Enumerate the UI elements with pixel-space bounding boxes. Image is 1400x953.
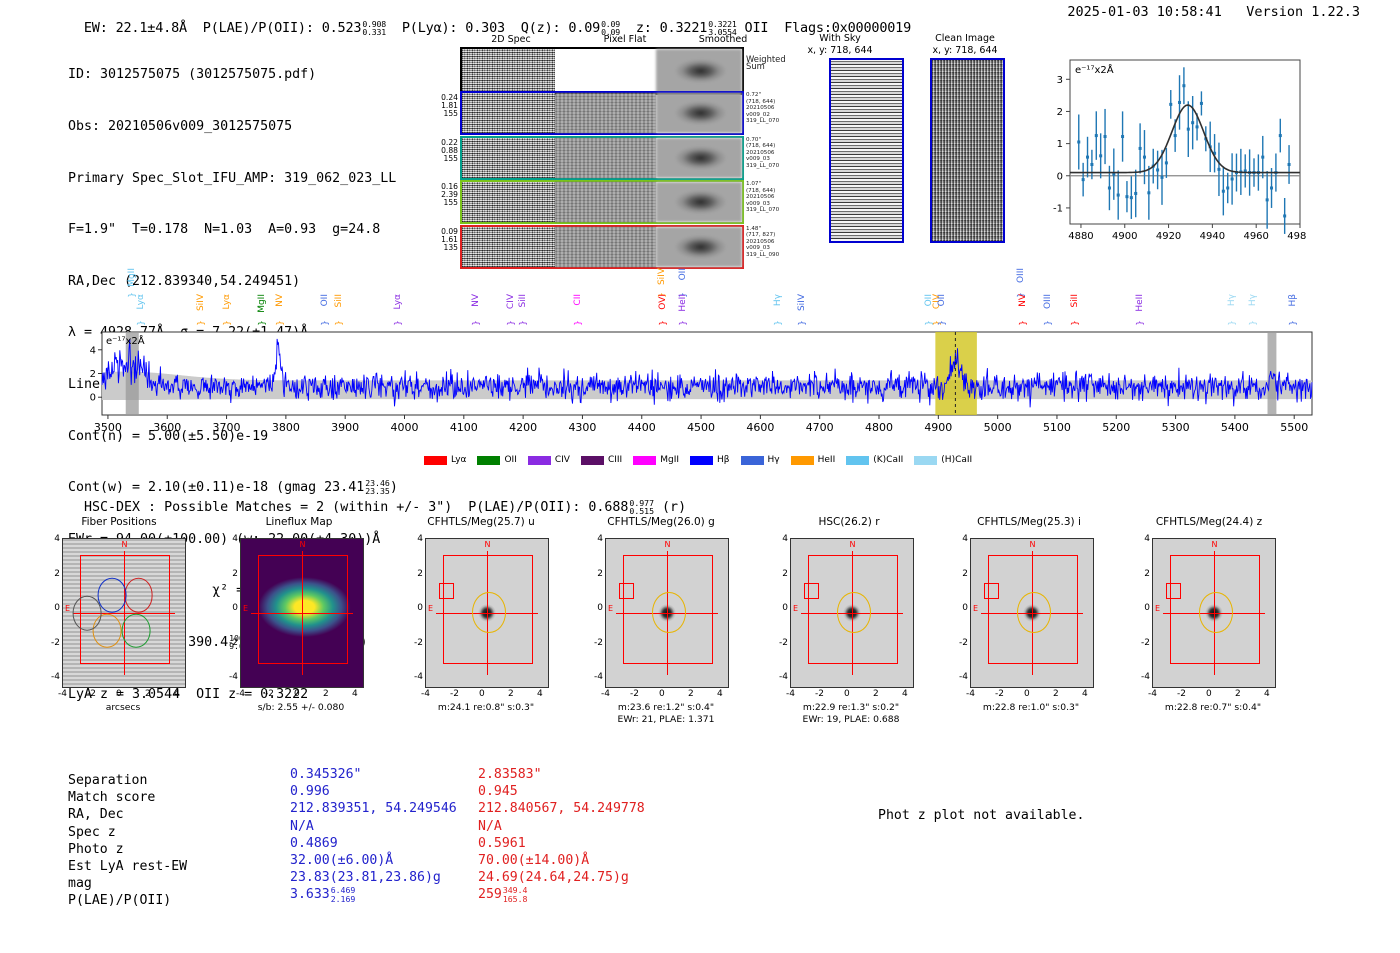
emission-line-brace: {	[392, 320, 402, 326]
legend-item: HeII	[791, 455, 836, 465]
cutout-y-ticks: 420-2-4	[1136, 538, 1150, 686]
table-cell-match1: 0.345326"	[290, 766, 361, 783]
legend-label: CIII	[608, 455, 622, 465]
table-cell-match1: 23.83(23.81,23.86)g	[290, 869, 441, 886]
cutout-image[interactable]: NE	[790, 538, 914, 688]
compass-n-label: N	[1212, 540, 1218, 549]
svg-text:4400: 4400	[628, 421, 656, 434]
emission-line-label: OII	[678, 268, 688, 280]
panel-title-2dspec: 2D Spec	[466, 34, 556, 45]
emission-line-label: NV	[1018, 294, 1028, 307]
fiber-2dspec-image	[462, 138, 555, 178]
legend-item: (H)CaII	[914, 455, 972, 465]
cutout-image[interactable]: NE	[240, 538, 364, 688]
svg-text:5400: 5400	[1221, 421, 1249, 434]
cutout-caption: arcsecs	[23, 702, 223, 714]
cutout-y-ticks: 420-2-4	[589, 538, 603, 686]
fiber-pixelflat-image	[555, 182, 656, 222]
cutout-title: CFHTLS/Meg(26.0) g	[576, 516, 746, 528]
emission-line-label: OIII	[1043, 294, 1053, 309]
weighted-sum-pixelflat-image	[555, 49, 656, 93]
cutout-caption: m:23.6 re:1.2" s:0.4"EWr: 21, PLAE: 1.37…	[566, 702, 766, 726]
compass-e-label: E	[608, 604, 613, 613]
cutout-x-ticks: -4-2024	[62, 689, 184, 702]
table-cell-match2: N/A	[478, 818, 502, 835]
compass-e-label: E	[243, 604, 248, 613]
emission-line-brace: {	[677, 320, 687, 326]
svg-text:4200: 4200	[509, 421, 537, 434]
svg-text:4500: 4500	[687, 421, 715, 434]
svg-text:4900: 4900	[1112, 231, 1137, 242]
cutout-y-ticks: 420-2-4	[774, 538, 788, 686]
aperture-circle-yellow	[472, 592, 506, 632]
emission-line-label: OVI	[658, 294, 668, 310]
compass-n-label: N	[485, 540, 491, 549]
fiber-left-values: 0.241.81155	[432, 94, 458, 119]
clean-image-image	[930, 58, 1005, 243]
compass-e-label: E	[1155, 604, 1160, 613]
emission-line-brace: {	[1226, 320, 1236, 326]
fiber-pixelflat-image	[555, 227, 656, 267]
aperture-circle-yellow	[1017, 592, 1051, 632]
info-obs: Obs: 20210506v009_3012575075	[68, 118, 398, 135]
emission-line-brace: {	[1134, 320, 1144, 326]
svg-text:0: 0	[1057, 171, 1063, 182]
emission-line-brace: {	[135, 320, 145, 326]
svg-text:3: 3	[1057, 75, 1063, 86]
fiber-left-values: 0.091.61135	[432, 228, 458, 253]
emission-line-brace: {	[1042, 320, 1052, 326]
emission-line-brace: {	[195, 320, 205, 326]
legend-swatch	[424, 456, 447, 465]
cutout-image[interactable]: NE	[970, 538, 1094, 688]
cutout-title: CFHTLS/Meg(25.3) i	[944, 516, 1114, 528]
fiber-circle	[73, 596, 102, 631]
table-row-label: Photo z	[68, 841, 124, 858]
emission-line-label: OII	[937, 294, 947, 306]
fiber-2dspec-image	[462, 93, 555, 133]
emission-line-label: SiII	[518, 294, 528, 308]
svg-text:4880: 4880	[1068, 231, 1093, 242]
info-id: ID: 3012575075 (3012575075.pdf)	[68, 66, 398, 83]
svg-text:3700: 3700	[213, 421, 241, 434]
emission-line-label: HeII	[678, 294, 688, 312]
table-cell-match1: 212.839351, 54.249546	[290, 800, 457, 817]
table-cell-match2: 212.840567, 54.249778	[478, 800, 645, 817]
table-cell-match2: 0.945	[478, 783, 518, 800]
compass-n-label: N	[665, 540, 671, 549]
cutout-x-ticks: -4-2024	[790, 689, 912, 702]
panel-title-pixelflat: Pixel Flat	[580, 34, 670, 45]
legend-item: MgII	[633, 455, 679, 465]
emission-line-labels: MgII{Lyα{SiIV{Lyα{MgII{NV{OII{SiII{Lyα{N…	[80, 268, 1320, 348]
legend-label: Hγ	[768, 455, 780, 465]
table-cell-match1: N/A	[290, 818, 314, 835]
compass-n-label: N	[850, 540, 856, 549]
emission-line-label: Hγ	[1227, 294, 1237, 306]
cutout-caption: s/b: 2.55 +/- 0.080	[201, 702, 401, 714]
compass-n-label: N	[300, 540, 306, 549]
emission-line-label: Lyα	[222, 294, 232, 309]
svg-text:4300: 4300	[568, 421, 596, 434]
svg-text:4940: 4940	[1200, 231, 1225, 242]
legend-label: (K)CaII	[873, 455, 903, 465]
legend-label: Hβ	[717, 455, 730, 465]
fiber-smoothed-image	[656, 227, 742, 267]
legend-item: Hβ	[690, 455, 730, 465]
fiber-meta-label: 0.72"(718, 644)20210506v009_02319_LL_070	[746, 92, 779, 125]
svg-text:4800: 4800	[865, 421, 893, 434]
emission-line-brace: {	[1069, 320, 1079, 326]
table-row-label: RA, Dec	[68, 806, 124, 823]
cutout-caption: m:22.8 re:0.7" s:0.4"	[1113, 702, 1313, 714]
cutout-caption: m:24.1 re:0.8" s:0.3"	[386, 702, 586, 714]
neighbor-red-marker	[439, 583, 453, 598]
cutout-y-ticks: 420-2-4	[224, 538, 238, 686]
weighted-sum-row	[460, 47, 744, 95]
emission-line-brace: {	[333, 320, 343, 326]
emission-line-label: CIV	[506, 294, 516, 309]
table-cell-match2: 2.83583"	[478, 766, 542, 783]
cutout-title: Lineflux Map	[214, 516, 384, 528]
with-sky-title: With Sky	[785, 33, 895, 44]
table-cell-match2: 70.00(±14.00)Å	[478, 852, 589, 869]
fiber-smoothed-image	[656, 138, 742, 178]
emission-line-label: NV	[275, 294, 285, 307]
aperture-circle-yellow	[1199, 592, 1233, 632]
compass-e-label: E	[65, 604, 70, 613]
emission-line-label: SiIV	[657, 268, 667, 285]
fiber-row	[460, 180, 744, 224]
legend-swatch	[528, 456, 551, 465]
legend-label: (H)CaII	[941, 455, 972, 465]
svg-text:4900: 4900	[924, 421, 952, 434]
svg-text:3500: 3500	[94, 421, 122, 434]
compass-e-label: E	[973, 604, 978, 613]
fiber-circle	[122, 613, 151, 648]
fiber-circle	[97, 578, 126, 613]
with-sky-image	[829, 58, 904, 243]
legend-item: (K)CaII	[846, 455, 903, 465]
svg-text:2: 2	[90, 369, 96, 380]
fiber-circle	[124, 578, 153, 613]
photoz-unavailable-note: Phot z plot not available.	[878, 808, 1084, 823]
cutout-x-ticks: -4-2024	[425, 689, 547, 702]
emission-line-label: SiII	[1070, 294, 1080, 308]
fiber-meta-label: 0.70"(718, 644)20210506v009_03319_LL_070	[746, 137, 779, 170]
clean-image-title: Clean Image	[910, 33, 1020, 44]
line-fit-svg: -10123488049004920494049604980e⁻¹⁷x2Å	[1036, 52, 1306, 250]
fiber-row	[460, 91, 744, 135]
weighted-sum-smoothed-image	[656, 49, 742, 93]
svg-text:4100: 4100	[450, 421, 478, 434]
svg-text:-1: -1	[1053, 203, 1063, 214]
compass-e-label: E	[428, 604, 433, 613]
fiber-row	[460, 225, 744, 269]
svg-text:0: 0	[90, 393, 96, 404]
svg-text:e⁻¹⁷x2Å: e⁻¹⁷x2Å	[1075, 63, 1114, 76]
table-row-label: mag	[68, 875, 92, 892]
emission-line-brace: {	[1247, 320, 1257, 326]
with-sky-subtitle: x, y: 718, 644	[785, 45, 895, 56]
legend-item: CIV	[528, 455, 570, 465]
cutout-x-ticks: -4-2024	[240, 689, 362, 702]
svg-text:5000: 5000	[984, 421, 1012, 434]
legend-swatch	[846, 456, 869, 465]
fiber-smoothed-image	[656, 182, 742, 222]
svg-text:3900: 3900	[331, 421, 359, 434]
emission-line-label: SiIV	[196, 294, 206, 311]
emission-line-label: Hβ	[1288, 294, 1298, 307]
cutout-image[interactable]: NE	[425, 538, 549, 688]
cutout-image[interactable]: NE	[1152, 538, 1276, 688]
emission-line-label: Hγ	[1248, 294, 1258, 306]
legend-label: MgII	[660, 455, 679, 465]
emission-line-label: HeII	[1135, 294, 1145, 312]
line-fit-plot: -10123488049004920494049604980e⁻¹⁷x2Å	[1036, 52, 1306, 250]
aperture-circle-yellow	[837, 592, 871, 632]
emission-line-label: Lyα	[393, 294, 403, 309]
table-cell-match1: 32.00(±6.00)Å	[290, 852, 393, 869]
header-datetime-version: 2025-01-03 10:58:41 Version 1.22.3	[1067, 4, 1360, 20]
table-cell-match2: 0.5961	[478, 835, 526, 852]
weighted-sum-2dspec-image	[462, 49, 555, 93]
panel-title-smoothed: Smoothed	[678, 34, 768, 45]
hsc-dex-match-line: HSC-DEX : Possible Matches = 2 (within +…	[68, 484, 686, 515]
cutout-y-ticks: 420-2-4	[46, 538, 60, 686]
legend-item: Lyα	[424, 455, 466, 465]
svg-text:3600: 3600	[153, 421, 181, 434]
emission-line-brace: {	[796, 320, 806, 326]
svg-text:4980: 4980	[1287, 231, 1306, 242]
cutout-caption: m:22.9 re:1.3" s:0.2"EWr: 19, PLAE: 0.68…	[751, 702, 951, 726]
table-cell-match1: 0.996	[290, 783, 330, 800]
legend-swatch	[581, 456, 604, 465]
svg-text:4700: 4700	[806, 421, 834, 434]
svg-text:1: 1	[1057, 139, 1063, 150]
legend-swatch	[741, 456, 764, 465]
hsc-dex-plae-bounds: 0.9770.515	[629, 499, 654, 515]
fiber-pixelflat-image	[555, 93, 656, 133]
legend-swatch	[633, 456, 656, 465]
emission-line-brace: {	[517, 320, 527, 326]
legend-item: OII	[477, 455, 516, 465]
emission-line-brace: {	[772, 320, 782, 326]
compass-n-label: N	[122, 540, 128, 549]
legend-label: OII	[504, 455, 516, 465]
emission-line-brace: {	[256, 320, 266, 326]
emission-line-label: OIII	[1016, 268, 1026, 283]
emission-line-label: Hγ	[773, 294, 783, 306]
cutout-crosshair-v	[124, 551, 125, 675]
fiber-2dspec-image	[462, 182, 555, 222]
aperture-circle-yellow	[652, 592, 686, 632]
legend-item: CIII	[581, 455, 622, 465]
cutout-y-ticks: 420-2-4	[409, 538, 423, 686]
table-row-label: Est LyA rest-EW	[68, 858, 187, 875]
svg-text:5300: 5300	[1162, 421, 1190, 434]
table-cell-match1: 0.4869	[290, 835, 338, 852]
clean-image-subtitle: x, y: 718, 644	[910, 45, 1020, 56]
emission-line-label: OII	[320, 294, 330, 306]
cutout-title: Fiber Positions	[34, 516, 204, 528]
emission-line-brace: {	[656, 320, 666, 326]
info-primary-spec: Primary Spec_Slot_IFU_AMP: 319_062_023_L…	[68, 170, 398, 187]
cutout-x-ticks: -4-2024	[605, 689, 727, 702]
cutout-y-ticks: 420-2-4	[954, 538, 968, 686]
weighted-sum-label: Weighted Sum	[746, 56, 786, 69]
neighbor-red-marker	[804, 583, 818, 598]
emission-line-label: MgII	[127, 268, 137, 287]
cutout-title: HSC(26.2) r	[764, 516, 934, 528]
emission-line-brace: {	[470, 320, 480, 326]
emission-line-label: CII	[573, 294, 583, 306]
legend-swatch	[477, 456, 500, 465]
fiber-smoothed-image	[656, 93, 742, 133]
fiber-pixelflat-image	[555, 138, 656, 178]
svg-text:4600: 4600	[746, 421, 774, 434]
fiber-meta-label: 1.48"(717, 827)20210506v009_03319_LL_090	[746, 226, 779, 259]
fiber-left-values: 0.162.39155	[432, 183, 458, 208]
svg-text:4920: 4920	[1156, 231, 1181, 242]
legend-label: HeII	[818, 455, 836, 465]
legend-label: Lyα	[451, 455, 466, 465]
cutout-image[interactable]: NE	[605, 538, 729, 688]
table-cell-match1: 3.6336.4692.169	[290, 886, 355, 903]
table-row-label: Match score	[68, 789, 155, 806]
svg-text:4000: 4000	[391, 421, 419, 434]
neighbor-red-marker	[984, 583, 998, 598]
neighbor-red-marker	[1166, 583, 1180, 598]
emission-line-label: Lyα	[136, 294, 146, 309]
cutout-title: CFHTLS/Meg(25.7) u	[396, 516, 566, 528]
emission-line-brace: {	[319, 320, 329, 326]
cutout-x-ticks: -4-2024	[970, 689, 1092, 702]
svg-text:2: 2	[1057, 107, 1063, 118]
fiber-meta-label: 1.07"(718, 644)20210506v009_03319_LL_070	[746, 181, 779, 214]
cutout-image[interactable]: NE	[62, 538, 186, 688]
legend-item: Hγ	[741, 455, 780, 465]
table-cell-match2: 24.69(24.64,24.75)g	[478, 869, 629, 886]
table-row-label: Spec z	[68, 824, 116, 841]
emission-line-brace: {	[936, 320, 946, 326]
svg-text:5200: 5200	[1102, 421, 1130, 434]
info-params: F=1.9" T=0.178 N=1.03 A=0.93 g=24.8	[68, 221, 398, 238]
hsc-dex-band: (r)	[654, 500, 686, 515]
compass-e-label: E	[793, 604, 798, 613]
emission-line-brace: {	[126, 292, 136, 298]
neighbor-red-marker	[619, 583, 633, 598]
fiber-row	[460, 136, 744, 180]
svg-text:3800: 3800	[272, 421, 300, 434]
table-row-label: P(LAE)/P(OII)	[68, 892, 171, 909]
cutout-crosshair-v	[302, 551, 303, 675]
hsc-dex-text: HSC-DEX : Possible Matches = 2 (within +…	[84, 500, 628, 515]
legend-label: CIV	[555, 455, 570, 465]
svg-text:4960: 4960	[1243, 231, 1268, 242]
spectrum-legend: LyαOIICIVCIIIMgIIHβHγHeII(K)CaII(H)CaII	[424, 455, 972, 465]
emission-line-label: NV	[471, 294, 481, 307]
emission-line-brace: {	[505, 320, 515, 326]
fiber-left-values: 0.220.88155	[432, 139, 458, 164]
emission-line-label: SiII	[334, 294, 344, 308]
cutout-x-ticks: -4-2024	[1152, 689, 1274, 702]
cutout-title: CFHTLS/Meg(24.4) z	[1124, 516, 1294, 528]
svg-text:5100: 5100	[1043, 421, 1071, 434]
compass-n-label: N	[1030, 540, 1036, 549]
cutout-caption: m:22.8 re:1.0" s:0.3"	[931, 702, 1131, 714]
table-row-label: Separation	[68, 772, 147, 789]
svg-text:5500: 5500	[1280, 421, 1308, 434]
fiber-2dspec-image	[462, 227, 555, 267]
legend-swatch	[690, 456, 713, 465]
emission-line-brace: {	[1287, 320, 1297, 326]
legend-swatch	[914, 456, 937, 465]
emission-line-brace: {	[220, 320, 230, 326]
table-cell-match2: 259349.4165.8	[478, 886, 527, 903]
emission-line-brace: {	[572, 320, 582, 326]
emission-line-brace: {	[1017, 320, 1027, 326]
emission-line-label: SiIV	[797, 294, 807, 311]
emission-line-label: MgII	[257, 294, 267, 313]
legend-swatch	[791, 456, 814, 465]
emission-line-brace: {	[274, 320, 284, 326]
